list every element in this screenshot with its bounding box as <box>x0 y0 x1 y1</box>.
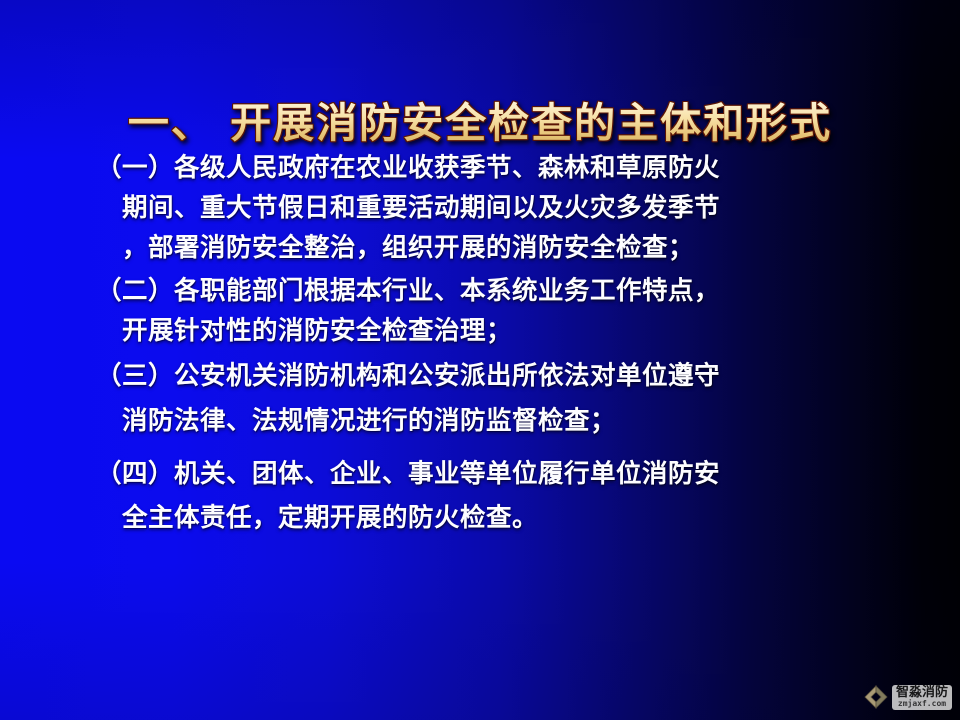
slide-canvas: 一、 开展消防安全检查的主体和形式 （一）各级人民政府在农业收获季节、森林和草原… <box>0 0 960 720</box>
watermark-url: zmjaxf.com <box>896 700 948 708</box>
paragraph-line: 期间、重大节假日和重要活动期间以及火灾多发季节 <box>96 188 896 228</box>
paragraph-line: （二）各职能部门根据本行业、本系统业务工作特点， <box>96 271 896 311</box>
paragraph-line: ，部署消防安全整治，组织开展的消防安全检查； <box>96 228 896 268</box>
paragraph-line: 消防法律、法规情况进行的消防监督检查； <box>96 399 896 444</box>
paragraph-line: （四）机关、团体、企业、事业等单位履行单位消防安 <box>96 452 896 496</box>
watermark-brand: 智淼消防 <box>896 686 948 699</box>
paragraph-line: 开展针对性的消防安全检查治理； <box>96 311 896 351</box>
list-item: （三）公安机关消防机构和公安派出所依法对单位遵守 消防法律、法规情况进行的消防监… <box>96 354 896 444</box>
list-item: （一）各级人民政府在农业收获季节、森林和草原防火 期间、重大节假日和重要活动期间… <box>96 148 896 268</box>
slide-body: （一）各级人民政府在农业收获季节、森林和草原防火 期间、重大节假日和重要活动期间… <box>96 148 896 544</box>
paragraph-line: 全主体责任，定期开展的防火检查。 <box>96 496 896 540</box>
page-title: 一、 开展消防安全检查的主体和形式 <box>128 99 832 148</box>
list-item: （二）各职能部门根据本行业、本系统业务工作特点， 开展针对性的消防安全检查治理； <box>96 271 896 351</box>
list-item: （四）机关、团体、企业、事业等单位履行单位消防安 全主体责任，定期开展的防火检查… <box>96 452 896 540</box>
watermark-textbox: 智淼消防 zmjaxf.com <box>892 685 952 710</box>
paragraph-line: （三）公安机关消防机构和公安派出所依法对单位遵守 <box>96 354 896 399</box>
paragraph-line: （一）各级人民政府在农业收获季节、森林和草原防火 <box>96 148 896 188</box>
zm-monogram-icon <box>863 684 889 710</box>
watermark: 智淼消防 zmjaxf.com <box>863 684 952 710</box>
